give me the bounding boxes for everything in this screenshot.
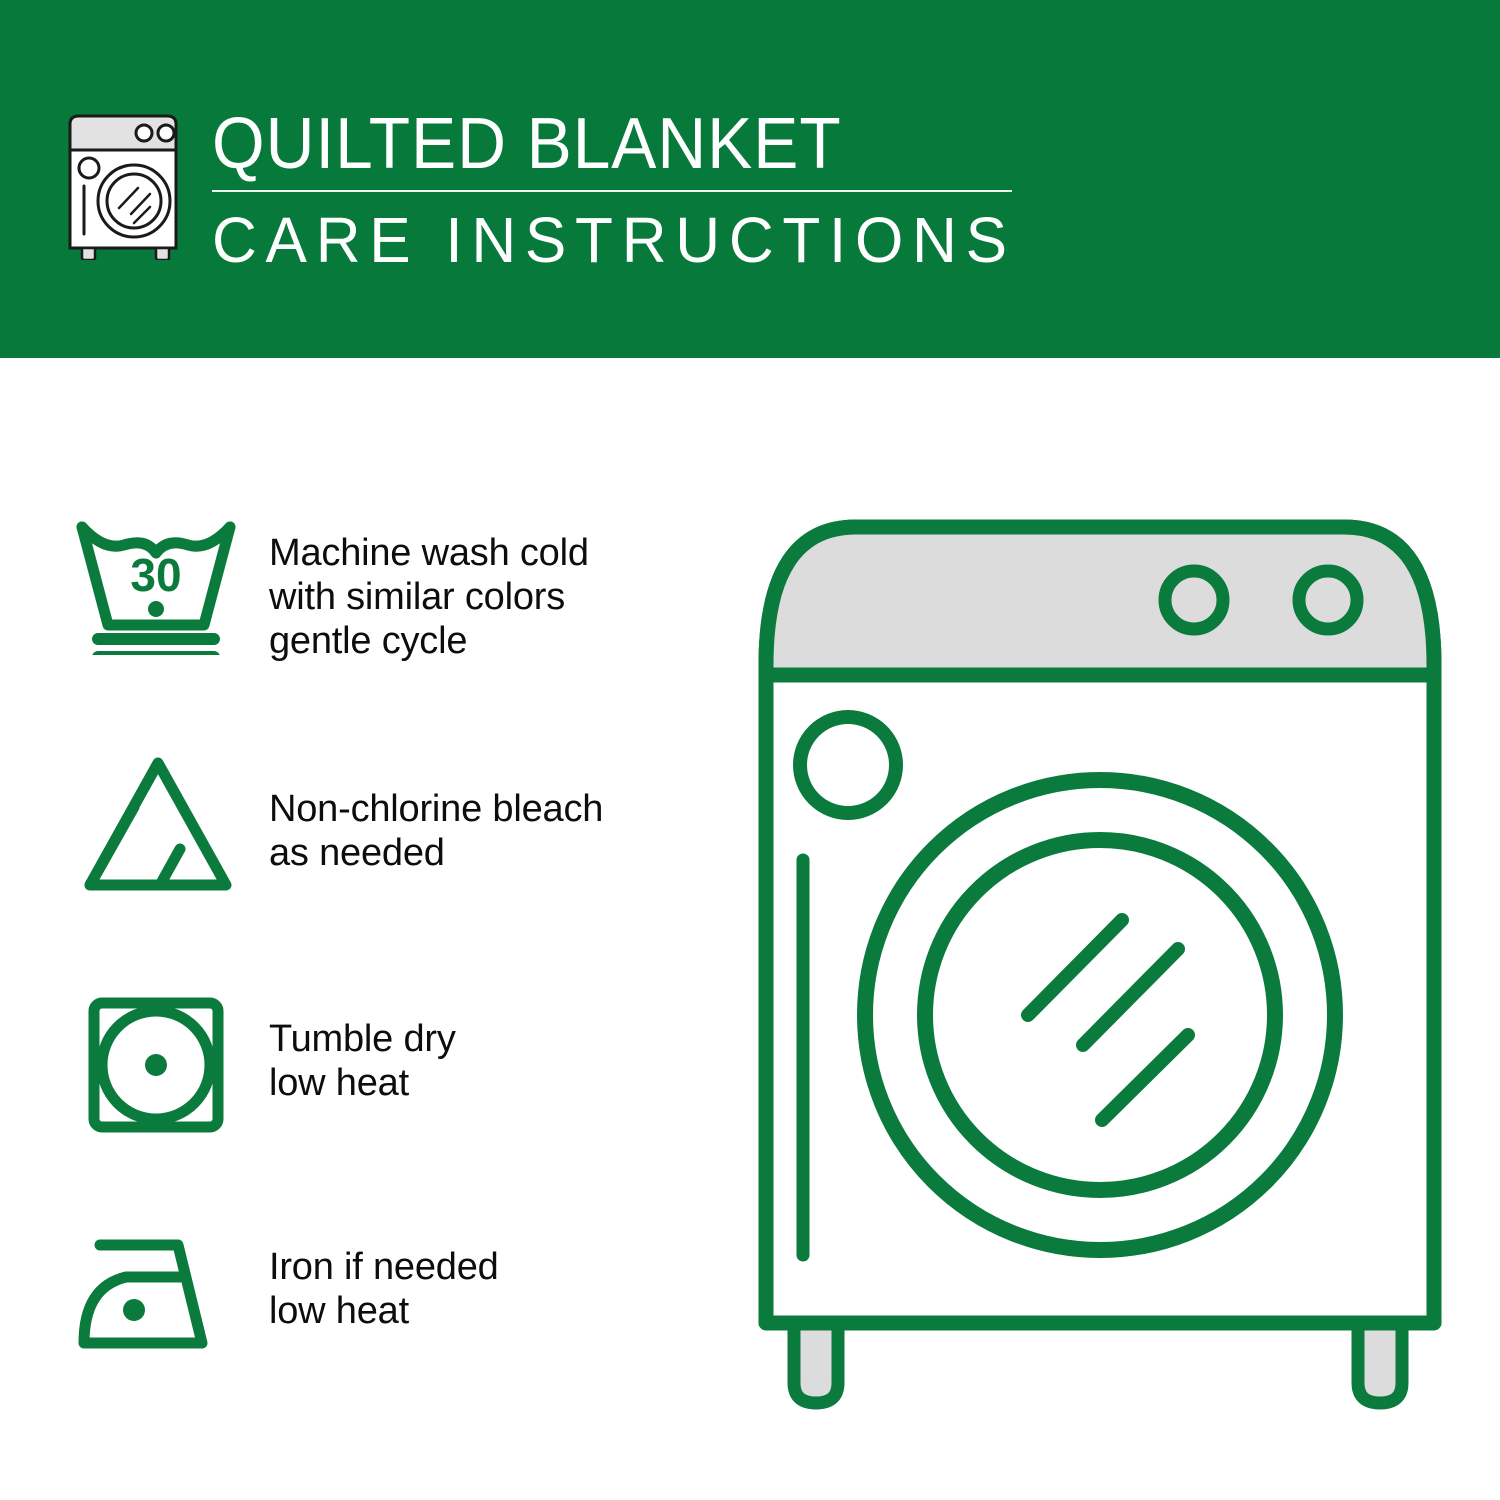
care-label-line: Non-chlorine bleach [269, 787, 710, 831]
care-instruction-label: Non-chlorine bleach as needed [245, 745, 710, 875]
care-instruction-list: 30 Machine wash cold with similar colors… [70, 505, 710, 1395]
care-label-line: gentle cycle [269, 619, 710, 663]
care-instruction-label: Iron if needed low heat [245, 1225, 710, 1333]
care-label-line: low heat [269, 1289, 710, 1333]
care-instruction-row: Iron if needed low heat [70, 1225, 710, 1395]
care-label-line: as needed [269, 831, 710, 875]
care-instructions-infographic: QUILTED BLANKET CARE INSTRUCTIONS 30 [0, 0, 1500, 1500]
washing-machine-icon [62, 108, 192, 260]
care-instruction-label: Tumble dry low heat [245, 985, 710, 1105]
care-instruction-row: Tumble dry low heat [70, 985, 710, 1225]
wash-temperature-value: 30 [130, 549, 181, 601]
care-instruction-row: Non-chlorine bleach as needed [70, 745, 710, 985]
tumble-dry-low-icon [70, 985, 245, 1135]
knob-right [1299, 571, 1357, 629]
non-chlorine-bleach-triangle-icon [70, 745, 245, 895]
care-label-line: Machine wash cold [269, 531, 710, 575]
detergent-port [800, 717, 896, 813]
care-label-line: with similar colors [269, 575, 710, 619]
care-instruction-label: Machine wash cold with similar colors ge… [245, 505, 710, 663]
drum-door-inner [925, 840, 1275, 1190]
page-title: QUILTED BLANKET [212, 104, 983, 184]
care-label-line: Iron if needed [269, 1245, 710, 1289]
header-banner: QUILTED BLANKET CARE INSTRUCTIONS [0, 0, 1500, 358]
washing-machine-illustration [750, 505, 1450, 1415]
wash-tub-30-gentle-icon: 30 [70, 505, 245, 655]
iron-low-heat-icon [70, 1225, 245, 1375]
care-label-line: low heat [269, 1061, 710, 1105]
care-instruction-row: 30 Machine wash cold with similar colors… [70, 505, 710, 745]
page-subtitle: CARE INSTRUCTIONS [212, 204, 1007, 276]
title-divider [212, 190, 1012, 192]
care-label-line: Tumble dry [269, 1017, 710, 1061]
header-title-block: QUILTED BLANKET CARE INSTRUCTIONS [212, 104, 1032, 276]
knob-left [1165, 571, 1223, 629]
